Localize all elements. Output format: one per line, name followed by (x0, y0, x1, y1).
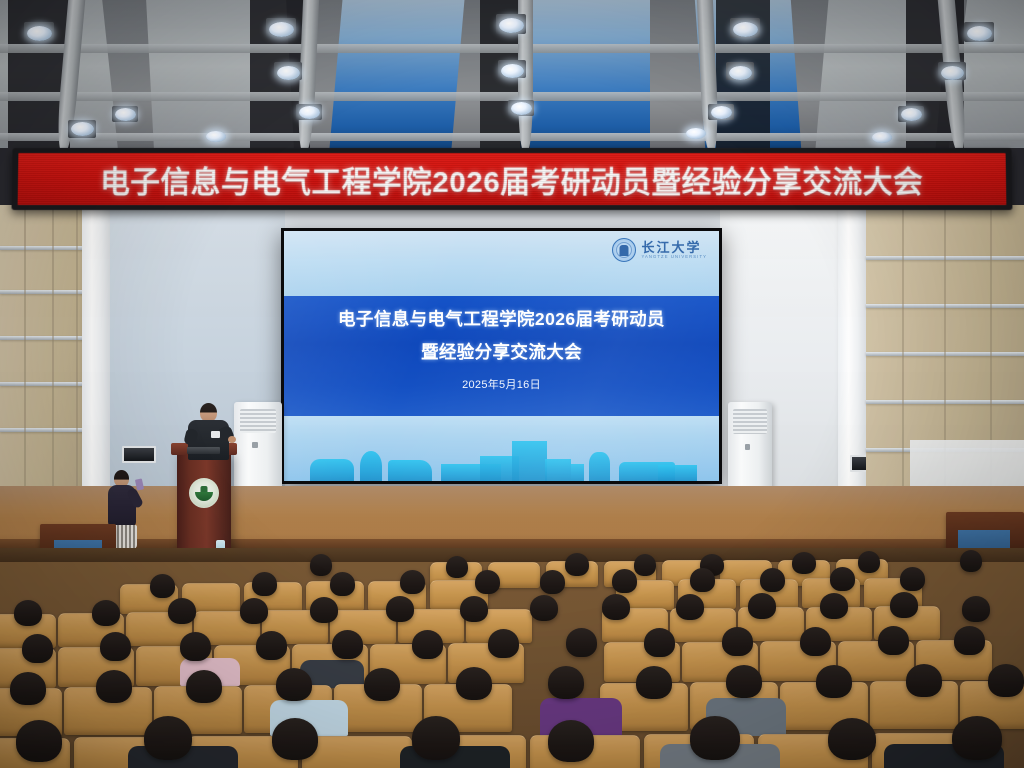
audience-head (690, 716, 740, 760)
audience-head (566, 628, 597, 657)
audience-head (276, 668, 312, 701)
ceiling-downlight-icon (967, 26, 992, 41)
ac-brand-mark (252, 442, 258, 448)
audience-head (828, 718, 876, 760)
audience-head (820, 593, 848, 619)
ceiling-downlight-icon (686, 128, 706, 139)
presentation-slide: 长江大学 YANGTZE UNIVERSITY 电子信息与电气工程学院2026届… (284, 231, 719, 481)
audience-head (240, 598, 268, 624)
audience-head (412, 716, 460, 760)
audience-head (954, 626, 985, 655)
ceiling-downlight-icon (206, 131, 226, 142)
ceiling-downlight-icon (299, 106, 320, 119)
audience-head (760, 568, 785, 592)
ceiling-downlight-icon (941, 66, 964, 80)
podium-emblem-icon (189, 478, 219, 508)
auditorium-photo-scene: 电子信息与电气工程学院2026届考研动员暨经验分享交流大会 (0, 0, 1024, 768)
audience-head (310, 554, 332, 576)
audience-seating-area (0, 548, 1024, 768)
audience-head (952, 716, 1002, 760)
audience-head (890, 592, 918, 618)
audience-head (100, 632, 131, 661)
audience-head (400, 570, 425, 594)
slide-title-line-2: 暨经验分享交流大会 (284, 339, 719, 364)
audience-head (830, 567, 855, 591)
podium-laptop (187, 447, 220, 454)
ceiling-downlight-icon (729, 66, 752, 80)
projection-screen: 长江大学 YANGTZE UNIVERSITY 电子信息与电气工程学院2026届… (281, 228, 722, 484)
audience-head (144, 716, 192, 760)
left-pillar (82, 205, 110, 505)
left-wall-speaker-vent (122, 446, 156, 463)
audience-head (676, 594, 704, 620)
audience-head (330, 572, 355, 596)
audience-head (748, 593, 776, 619)
ceiling-downlight-icon (27, 26, 52, 41)
audience-head (252, 572, 277, 596)
audience-head (690, 568, 715, 592)
audience-head (168, 598, 196, 624)
speaker-at-podium (186, 403, 230, 461)
audience-head (14, 600, 42, 626)
audience-head (722, 627, 753, 656)
audience-head (988, 664, 1024, 697)
audience-head (900, 567, 925, 591)
audience-head (150, 574, 175, 598)
audience-head (565, 553, 589, 576)
ceiling-downlight-icon (71, 122, 94, 136)
ceiling-downlight-icon (901, 108, 922, 121)
slide-bottom-band (284, 416, 719, 481)
audience-head (446, 556, 468, 578)
audience-head (636, 666, 672, 699)
audience-head (16, 720, 62, 762)
audience-head (310, 597, 338, 623)
audience-head (256, 631, 287, 660)
ceiling-downlight-icon (501, 64, 524, 78)
ac-grille (733, 409, 766, 435)
audience-head (858, 551, 880, 573)
audience-head (10, 672, 46, 705)
audience-head (634, 554, 656, 576)
ceiling-downlight-icon (499, 18, 524, 33)
ceiling-downlight-icon (277, 66, 300, 80)
audience-head (906, 664, 942, 697)
speaker-badge (211, 431, 220, 438)
ceiling-downlight-icon (511, 102, 532, 115)
audience-head (548, 666, 584, 699)
audience-head (800, 627, 831, 656)
university-logo: 长江大学 YANGTZE UNIVERSITY (612, 238, 707, 262)
ceiling (0, 0, 1024, 148)
audience-head (22, 634, 53, 663)
audience-head (602, 594, 630, 620)
audience-head (92, 600, 120, 626)
audience-head (792, 552, 816, 574)
audience-head (332, 630, 363, 659)
audience-head (475, 570, 500, 594)
audience-head (460, 596, 488, 622)
ceiling-downlight-icon (711, 106, 732, 119)
ceiling-downlight-icon (733, 22, 758, 37)
audience-head (548, 720, 594, 762)
slide-date: 2025年5月16日 (284, 376, 719, 392)
audience-head (540, 570, 565, 594)
audience-head (180, 632, 211, 661)
audience-head (96, 670, 132, 703)
audience-head (186, 670, 222, 703)
audience-head (962, 596, 990, 622)
audience-head (612, 569, 637, 593)
seat (302, 736, 412, 768)
audience-head (456, 667, 492, 700)
ceiling-downlight-icon (872, 132, 892, 143)
audience-head (878, 626, 909, 655)
university-name-en: YANGTZE UNIVERSITY (641, 255, 707, 259)
audience-head (386, 596, 414, 622)
audience-head (960, 550, 982, 572)
audience-head (816, 665, 852, 698)
led-banner: 电子信息与电气工程学院2026届考研动员暨经验分享交流大会 (12, 148, 1013, 210)
ceiling-downlight-icon (269, 22, 294, 37)
audience-head (272, 718, 318, 760)
speaker-hand (228, 436, 236, 443)
ac-brand-mark (745, 444, 750, 450)
audience-head (412, 630, 443, 659)
city-skyline-graphic (284, 416, 719, 481)
university-seal-icon (612, 238, 636, 262)
ac-grille (240, 409, 276, 434)
audience-head (644, 628, 675, 657)
audience-head (530, 595, 558, 621)
university-name-cn: 长江大学 (641, 241, 707, 255)
audience-head (488, 629, 519, 658)
audience-head (364, 668, 400, 701)
slide-title-line-1: 电子信息与电气工程学院2026届考研动员 (284, 306, 719, 331)
audience-head (726, 665, 762, 698)
banner-text: 电子信息与电气工程学院2026届考研动员暨经验分享交流大会 (100, 157, 923, 201)
ceiling-downlight-icon (115, 108, 136, 121)
